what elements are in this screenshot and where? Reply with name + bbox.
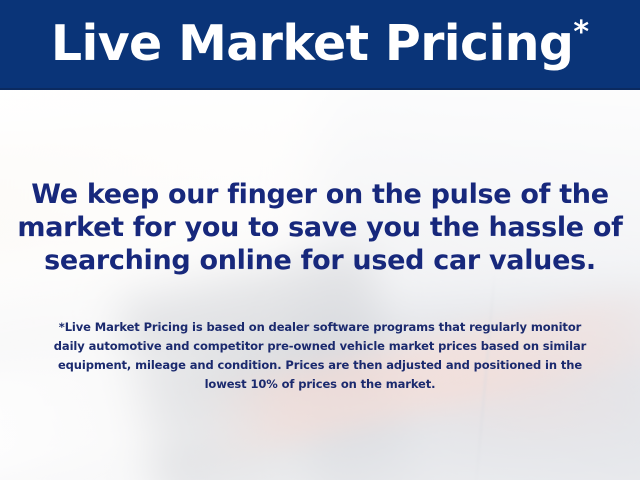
disclaimer: *Live Market Pricing is based on dealer … (0, 318, 640, 394)
disclaimer-line-3: equipment, mileage and condition. Prices… (0, 356, 640, 375)
headline-line-3: searching online for used car values. (0, 244, 640, 277)
live-market-pricing-banner: Live Market Pricing* We keep our finger … (0, 0, 640, 480)
page-title-text: Live Market Pricing (51, 15, 574, 72)
page-title: Live Market Pricing* (51, 18, 589, 71)
disclaimer-line-2: daily automotive and competitor pre-owne… (0, 337, 640, 356)
disclaimer-line-4: lowest 10% of prices on the market. (0, 375, 640, 394)
header-band: Live Market Pricing* (0, 0, 640, 90)
disclaimer-line-1: *Live Market Pricing is based on dealer … (0, 318, 640, 337)
headline-line-2: market for you to save you the hassle of (0, 211, 640, 244)
headline: We keep our finger on the pulse of the m… (0, 178, 640, 277)
headline-line-1: We keep our finger on the pulse of the (0, 178, 640, 211)
page-title-asterisk: * (573, 15, 589, 50)
